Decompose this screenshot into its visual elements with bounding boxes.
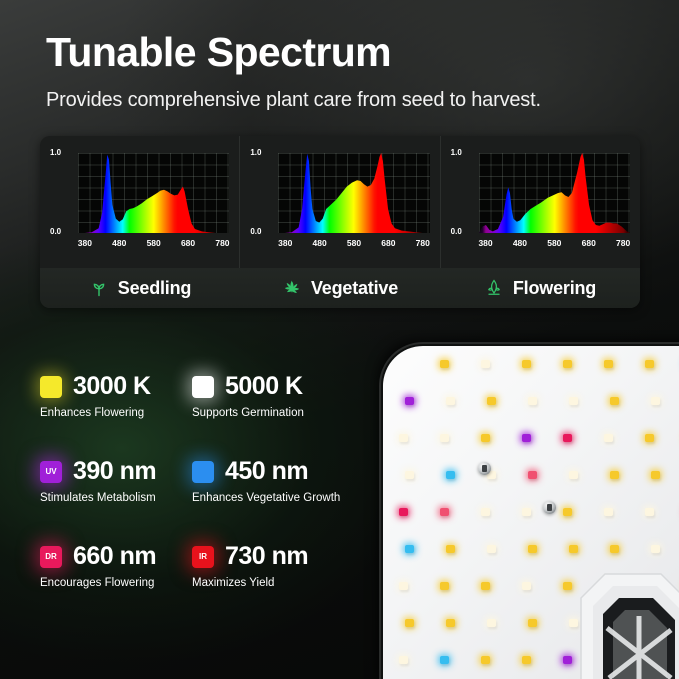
spectrum-chart-vegetative: 1.0 0.0 380480580680780 bbox=[240, 136, 440, 268]
led-diode bbox=[405, 619, 414, 627]
led-diode bbox=[481, 582, 490, 590]
spec-row: UV 390 nm Stimulates Metabolism 450 nm E… bbox=[40, 457, 370, 504]
sprout-icon bbox=[89, 278, 109, 298]
x-axis-tick: 780 bbox=[215, 238, 229, 248]
spec-item-5000k: 5000 K Supports Germination bbox=[192, 372, 370, 419]
infrared-badge: IR bbox=[192, 546, 214, 568]
heatsink-housing bbox=[541, 558, 679, 679]
y-axis-tick-max-0: 1.0 bbox=[50, 148, 61, 157]
led-diode bbox=[569, 545, 578, 553]
cool-white-swatch bbox=[192, 376, 214, 398]
x-axis-tick: 380 bbox=[78, 238, 92, 248]
spec-value: 390 nm bbox=[73, 457, 156, 486]
deep-red-badge: DR bbox=[40, 546, 62, 568]
spec-row: DR 660 nm Encourages Flowering IR 730 nm… bbox=[40, 542, 370, 589]
led-diode bbox=[446, 619, 455, 627]
led-diode bbox=[563, 434, 572, 442]
blue-swatch bbox=[192, 461, 214, 483]
y-axis-tick-min-1: 0.0 bbox=[250, 227, 261, 236]
cannabis-leaf-icon bbox=[282, 278, 302, 298]
led-diode bbox=[645, 508, 654, 516]
spectrum-curve-1 bbox=[278, 153, 429, 233]
led-diode bbox=[487, 397, 496, 405]
spec-item-450nm: 450 nm Enhances Vegetative Growth bbox=[192, 457, 370, 504]
spectrum-curve-2 bbox=[479, 153, 630, 233]
x-axis-tick: 680 bbox=[582, 238, 596, 248]
flower-bud-icon bbox=[484, 278, 504, 298]
spec-desc: Supports Germination bbox=[192, 407, 370, 419]
x-axis-tick: 380 bbox=[478, 238, 492, 248]
led-diode bbox=[528, 619, 537, 627]
spectrum-card: 1.0 0.0 380480580680780 1.0 0.0 38048058… bbox=[40, 136, 640, 308]
product-feature-graphic: Tunable Spectrum Provides comprehensive … bbox=[0, 0, 679, 679]
led-diode bbox=[440, 360, 449, 368]
led-diode bbox=[569, 397, 578, 405]
spectrum-chart-flowering: 1.0 0.0 380480580680780 bbox=[441, 136, 640, 268]
led-diode bbox=[645, 360, 654, 368]
x-axis-tick: 380 bbox=[278, 238, 292, 248]
x-axis-tick: 580 bbox=[547, 238, 561, 248]
led-diode bbox=[569, 471, 578, 479]
spec-row: 3000 K Enhances Flowering 5000 K Support… bbox=[40, 372, 370, 419]
led-diode bbox=[604, 508, 613, 516]
plot-area-2 bbox=[479, 153, 630, 233]
stage-label-vegetative: Vegetative bbox=[311, 278, 398, 299]
led-diode bbox=[399, 508, 408, 516]
led-diode bbox=[563, 360, 572, 368]
led-diode bbox=[528, 471, 537, 479]
y-axis-tick-min-0: 0.0 bbox=[50, 227, 61, 236]
led-diode bbox=[522, 582, 531, 590]
led-diode bbox=[405, 397, 414, 405]
led-diode bbox=[522, 508, 531, 516]
spec-item-730nm: IR 730 nm Maximizes Yield bbox=[192, 542, 370, 589]
led-diode bbox=[481, 434, 490, 442]
led-diode bbox=[651, 397, 660, 405]
mounting-screw bbox=[478, 462, 491, 475]
x-axis-tick: 580 bbox=[347, 238, 361, 248]
spec-desc: Enhances Flowering bbox=[40, 407, 192, 419]
plot-area-1 bbox=[278, 153, 429, 233]
led-diode bbox=[399, 434, 408, 442]
led-diode bbox=[481, 508, 490, 516]
spec-item-3000k: 3000 K Enhances Flowering bbox=[40, 372, 192, 419]
x-axis-tick: 780 bbox=[616, 238, 630, 248]
spectrum-curve-0 bbox=[78, 153, 229, 233]
led-diode bbox=[405, 471, 414, 479]
growth-stage-bar: Seedling Vegetative bbox=[40, 268, 640, 308]
led-diode bbox=[522, 434, 531, 442]
x-axis-tick: 680 bbox=[381, 238, 395, 248]
spectrum-charts-row: 1.0 0.0 380480580680780 1.0 0.0 38048058… bbox=[40, 136, 640, 268]
led-diode bbox=[651, 545, 660, 553]
stage-item-seedling[interactable]: Seedling bbox=[40, 278, 240, 299]
led-diode bbox=[446, 471, 455, 479]
led-diode bbox=[481, 360, 490, 368]
led-diode bbox=[528, 397, 537, 405]
spec-value: 660 nm bbox=[73, 542, 156, 571]
led-diode bbox=[604, 360, 613, 368]
led-diode bbox=[440, 582, 449, 590]
led-diode bbox=[405, 545, 414, 553]
spec-value: 3000 K bbox=[73, 372, 151, 401]
y-axis-tick-min-2: 0.0 bbox=[451, 227, 462, 236]
led-diode bbox=[399, 582, 408, 590]
x-axis-tick: 680 bbox=[181, 238, 195, 248]
x-axis-tick: 480 bbox=[513, 238, 527, 248]
spec-item-390nm: UV 390 nm Stimulates Metabolism bbox=[40, 457, 192, 504]
stage-label-flowering: Flowering bbox=[513, 278, 596, 299]
stage-item-flowering[interactable]: Flowering bbox=[440, 278, 640, 299]
x-axis-tick: 780 bbox=[416, 238, 430, 248]
led-diode bbox=[399, 656, 408, 664]
led-diode bbox=[651, 471, 660, 479]
led-diode bbox=[481, 656, 490, 664]
led-diode bbox=[440, 434, 449, 442]
header: Tunable Spectrum Provides comprehensive … bbox=[46, 30, 646, 112]
mounting-screw bbox=[543, 501, 556, 514]
uv-badge: UV bbox=[40, 461, 62, 483]
led-diode bbox=[645, 434, 654, 442]
stage-item-vegetative[interactable]: Vegetative bbox=[240, 278, 440, 299]
spec-value: 450 nm bbox=[225, 457, 308, 486]
led-grow-light-panel bbox=[355, 330, 679, 679]
led-diode bbox=[487, 545, 496, 553]
x-axis-tick: 480 bbox=[112, 238, 126, 248]
led-diode bbox=[610, 397, 619, 405]
stage-label-seedling: Seedling bbox=[118, 278, 191, 299]
spec-value: 730 nm bbox=[225, 542, 308, 571]
x-axis-ticks-2: 380480580680780 bbox=[479, 238, 630, 250]
led-diode bbox=[522, 656, 531, 664]
page-subtitle: Provides comprehensive plant care from s… bbox=[46, 89, 646, 112]
led-diode bbox=[446, 545, 455, 553]
led-diode bbox=[487, 619, 496, 627]
led-diode bbox=[604, 434, 613, 442]
led-diode bbox=[610, 471, 619, 479]
x-axis-tick: 480 bbox=[313, 238, 327, 248]
led-diode bbox=[610, 545, 619, 553]
spec-desc: Enhances Vegetative Growth bbox=[192, 492, 370, 504]
x-axis-ticks-0: 380480580680780 bbox=[78, 238, 229, 250]
spec-item-660nm: DR 660 nm Encourages Flowering bbox=[40, 542, 192, 589]
spec-value: 5000 K bbox=[225, 372, 303, 401]
warm-white-swatch bbox=[40, 376, 62, 398]
page-title: Tunable Spectrum bbox=[46, 30, 646, 75]
led-diode bbox=[440, 508, 449, 516]
spec-desc: Maximizes Yield bbox=[192, 577, 370, 589]
led-diode bbox=[522, 360, 531, 368]
led-diode bbox=[528, 545, 537, 553]
spec-list: 3000 K Enhances Flowering 5000 K Support… bbox=[40, 372, 370, 627]
plot-area-0 bbox=[78, 153, 229, 233]
led-diode bbox=[446, 397, 455, 405]
y-axis-tick-max-1: 1.0 bbox=[250, 148, 261, 157]
x-axis-tick: 580 bbox=[147, 238, 161, 248]
spec-desc: Encourages Flowering bbox=[40, 577, 192, 589]
spec-desc: Stimulates Metabolism bbox=[40, 492, 192, 504]
x-axis-ticks-1: 380480580680780 bbox=[278, 238, 429, 250]
led-diode bbox=[440, 656, 449, 664]
spectrum-chart-seedling: 1.0 0.0 380480580680780 bbox=[40, 136, 240, 268]
led-diode bbox=[563, 508, 572, 516]
y-axis-tick-max-2: 1.0 bbox=[451, 148, 462, 157]
